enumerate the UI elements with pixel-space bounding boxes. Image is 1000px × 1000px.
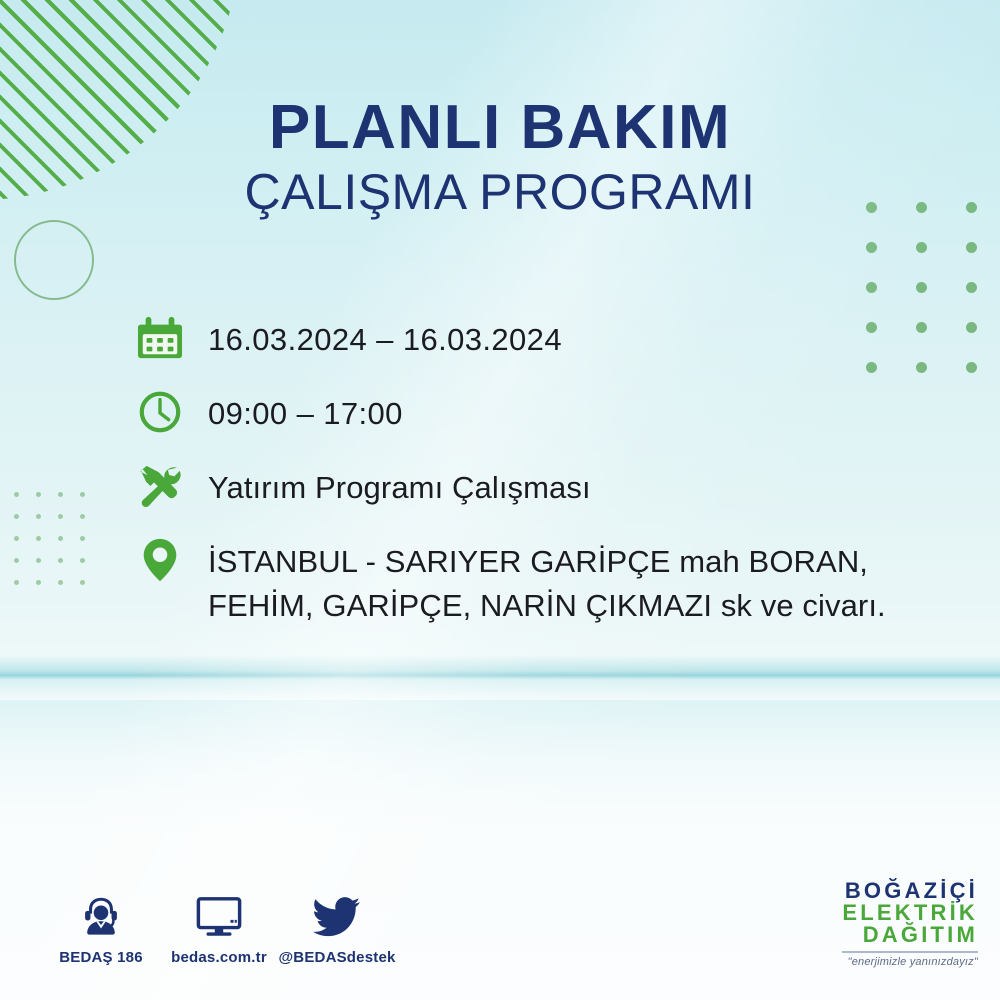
dot [966,362,977,373]
dot [36,536,41,541]
dot [14,558,19,563]
call-center-agent-icon [42,888,160,940]
contact-website-label: bedas.com.tr [160,949,278,966]
logo-divider [842,951,978,953]
location-pin-icon [134,534,186,586]
dot [966,282,977,293]
dot [866,242,877,253]
detail-location: İSTANBUL - SARIYER GARİPÇE mah BORAN, FE… [208,534,964,628]
contact-twitter[interactable]: @BEDASdestek [278,888,396,966]
dot [916,282,927,293]
detail-row-date: 16.03.2024 – 16.03.2024 [134,312,964,364]
dot [866,282,877,293]
contact-channels: BEDAŞ 186 bedas.com.tr @BEDASdestek [42,888,396,966]
logo-line-dagitim: DAĞITIM [842,924,978,946]
dot [80,580,85,585]
contact-twitter-label: @BEDASdestek [278,949,396,966]
maintenance-details-list: 16.03.2024 – 16.03.2024 09:00 – 17:00 [134,312,964,628]
logo-tagline: "enerjimizle yanınızdayız" [842,957,978,968]
dot [966,242,977,253]
detail-row-time: 09:00 – 17:00 [134,386,964,438]
tools-icon [134,460,186,512]
poster-header: PLANLI BAKIM ÇALIŞMA PROGRAMI [0,96,1000,220]
dot [14,492,19,497]
dot [80,536,85,541]
page-subtitle: ÇALIŞMA PROGRAMI [0,165,1000,220]
detail-work-type: Yatırım Programı Çalışması [208,460,591,510]
calendar-icon [134,312,186,364]
dot [58,580,63,585]
planned-maintenance-poster: PLANLI BAKIM ÇALIŞMA PROGRAMI [0,0,1000,1000]
dot [80,492,85,497]
contact-call-center[interactable]: BEDAŞ 186 [42,888,160,966]
contact-call-center-label: BEDAŞ 186 [42,949,160,966]
wave-band-decoration [0,655,1000,699]
twitter-bird-icon [278,888,396,940]
logo-line-elektrik: ELEKTRİK [842,902,978,924]
detail-date-range: 16.03.2024 – 16.03.2024 [208,312,562,362]
detail-time-range: 09:00 – 17:00 [208,386,403,436]
dot [14,536,19,541]
dot [58,558,63,563]
dot [80,558,85,563]
detail-row-work-type: Yatırım Programı Çalışması [134,460,964,512]
monitor-icon [160,888,278,940]
dot [14,514,19,519]
clock-icon [134,386,186,438]
contact-website[interactable]: bedas.com.tr [160,888,278,966]
dot [14,580,19,585]
bedas-logo: BOĞAZİÇİ ELEKTRİK DAĞITIM "enerjimizle y… [842,880,978,968]
dot [80,514,85,519]
dot [916,242,927,253]
dot [36,514,41,519]
circle-outline-decoration [14,220,94,300]
dot [36,558,41,563]
dot [58,536,63,541]
dot [36,492,41,497]
dot [58,492,63,497]
detail-row-location: İSTANBUL - SARIYER GARİPÇE mah BORAN, FE… [134,534,964,628]
dot [966,322,977,333]
logo-line-bogazici: BOĞAZİÇİ [842,880,978,902]
wave-band-lower-decoration [0,700,1000,820]
page-title: PLANLI BAKIM [0,96,1000,159]
dot [58,514,63,519]
dot [36,580,41,585]
dot-grid-left-decoration [14,492,102,602]
